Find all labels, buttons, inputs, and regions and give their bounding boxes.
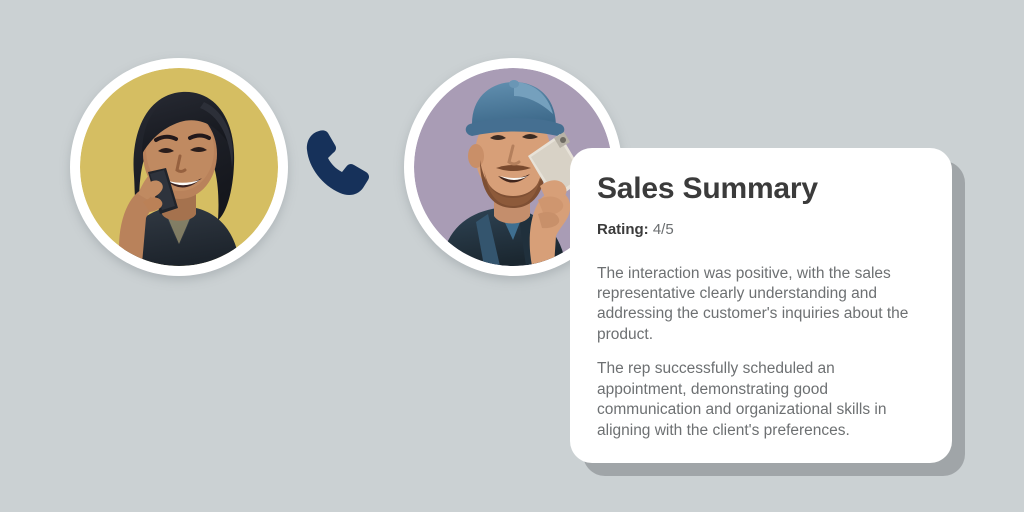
phone-handset-icon [300, 122, 382, 204]
rating-label: Rating: [597, 221, 649, 238]
caller-avatar-left-image [80, 68, 278, 266]
summary-card-title: Sales Summary [597, 172, 924, 207]
rating-row: Rating: 4/5 [597, 221, 924, 238]
rating-value: 4/5 [653, 221, 674, 238]
caller-avatar-left [70, 58, 288, 276]
call-summary-scene: Sales Summary Rating: 4/5 The interactio… [0, 0, 1024, 512]
summary-card: Sales Summary Rating: 4/5 The interactio… [570, 148, 952, 463]
woman-on-phone-photo [80, 68, 278, 266]
summary-paragraph-2: The rep successfully scheduled an appoin… [597, 359, 924, 441]
summary-paragraph-1: The interaction was positive, with the s… [597, 264, 924, 346]
